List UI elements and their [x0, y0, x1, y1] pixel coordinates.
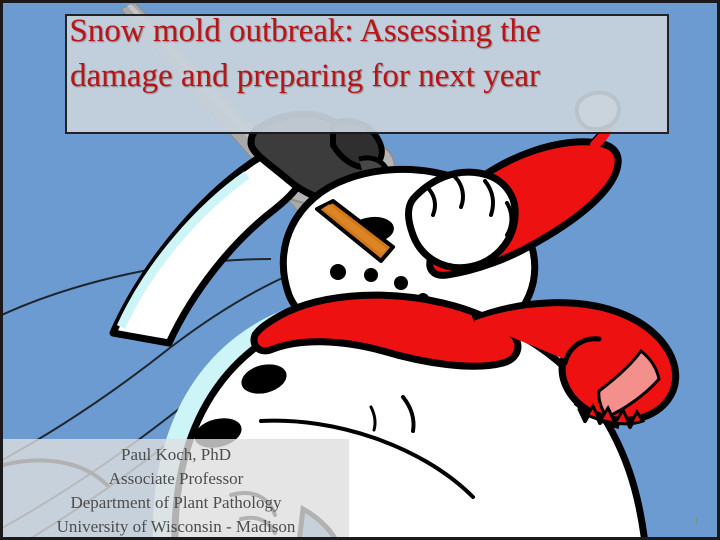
byline-placeholder-box[interactable]: [3, 439, 349, 540]
title-placeholder-box[interactable]: [65, 14, 669, 134]
mouth-dot: [364, 268, 378, 282]
presentation-slide: Snow mold outbreak: Assessing the damage…: [0, 0, 720, 540]
mouth-dot: [394, 276, 408, 290]
mouth-dot: [330, 264, 346, 280]
slide-number: 1: [694, 515, 700, 527]
